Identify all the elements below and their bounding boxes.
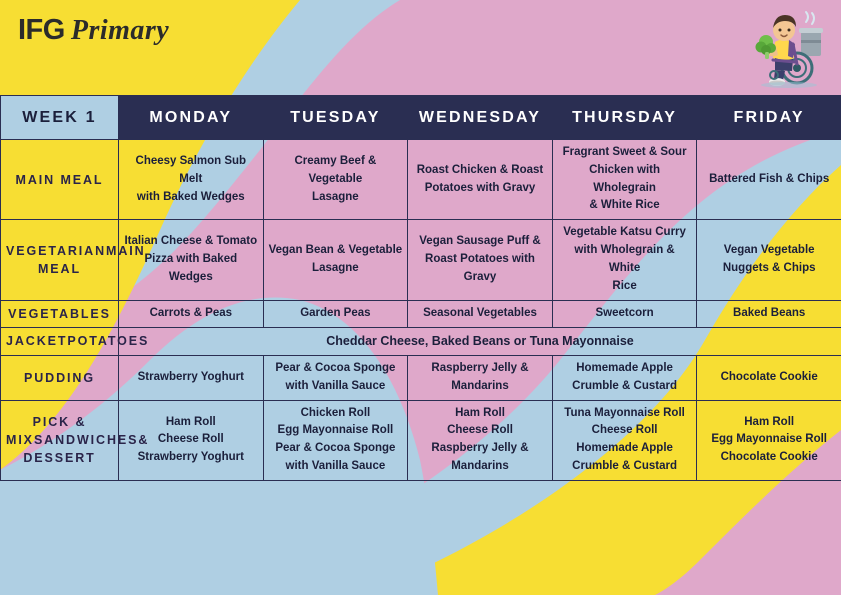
menu-cell-jacket-potatoes-all-days: Cheddar Cheese, Baked Beans or Tuna Mayo…	[119, 327, 841, 355]
menu-cell-pick-mix-sandwiches-dessert-thursday: Tuna Mayonnaise RollCheese RollHomemade …	[552, 400, 697, 480]
menu-cell-pick-mix-sandwiches-dessert-friday: Ham RollEgg Mayonnaise RollChocolate Coo…	[697, 400, 841, 480]
menu-item-line: Raspberry Jelly &	[413, 440, 547, 458]
row-label-vegetarian-main-meal: VEGETARIANMAIN MEAL	[1, 220, 119, 300]
row-label-line: VEGETABLES	[8, 307, 111, 321]
menu-item-line: Vegan Bean & Vegetable	[269, 242, 403, 260]
poster-header: IFG Primary	[0, 0, 841, 95]
menu-item-line: Battered Fish & Chips	[702, 171, 836, 189]
menu-item-line: Seasonal Vegetables	[413, 305, 547, 323]
menu-cell-vegetarian-main-meal-tuesday: Vegan Bean & VegetableLasagne	[263, 220, 408, 300]
row-label-pudding: PUDDING	[1, 356, 119, 401]
menu-cell-main-meal-friday: Battered Fish & Chips	[697, 140, 841, 220]
menu-item-line: Carrots & Peas	[124, 305, 258, 323]
menu-cell-vegetarian-main-meal-friday: Vegan VegetableNuggets & Chips	[697, 220, 841, 300]
menu-item-line: Baked Beans	[702, 305, 836, 323]
menu-item-line: with Wholegrain & White	[558, 242, 692, 278]
menu-item-line: Chocolate Cookie	[702, 369, 836, 387]
menu-item-line: Ham Roll	[413, 405, 547, 423]
menu-item-line: Raspberry Jelly &	[413, 360, 547, 378]
menu-item-line: Egg Mayonnaise Roll	[702, 431, 836, 449]
menu-item-line: Pear & Cocoa Sponge	[269, 440, 403, 458]
menu-cell-vegetables-tuesday: Garden Peas	[263, 300, 408, 327]
menu-cell-vegetables-friday: Baked Beans	[697, 300, 841, 327]
row-label-line: POTATOES	[67, 334, 149, 348]
menu-item-line: with Vanilla Sauce	[269, 378, 403, 396]
menu-cell-vegetarian-main-meal-thursday: Vegetable Katsu Currywith Wholegrain & W…	[552, 220, 697, 300]
menu-cell-main-meal-tuesday: Creamy Beef & VegetableLasagne	[263, 140, 408, 220]
menu-row-vegetarian-main-meal: VEGETARIANMAIN MEALItalian Cheese & Toma…	[1, 220, 841, 300]
menu-item-line: & White Rice	[558, 197, 692, 215]
menu-poster: IFG Primary	[0, 0, 841, 595]
row-label-main-meal: MAIN MEAL	[1, 140, 119, 220]
menu-item-line: Ham Roll	[702, 414, 836, 432]
menu-cell-vegetables-thursday: Sweetcorn	[552, 300, 697, 327]
menu-item-line: Lasagne	[269, 260, 403, 278]
row-label-pick-mix-sandwiches-dessert: PICK & MIXSANDWICHES& DESSERT	[1, 400, 119, 480]
menu-item-line: Homemade Apple	[558, 440, 692, 458]
menu-cell-pudding-wednesday: Raspberry Jelly &Mandarins	[408, 356, 553, 401]
header-day-friday: FRIDAY	[697, 96, 841, 140]
menu-item-line: Strawberry Yoghurt	[124, 369, 258, 387]
menu-cell-main-meal-thursday: Fragrant Sweet & SourChicken with Wholeg…	[552, 140, 697, 220]
menu-item-line: Gravy	[413, 269, 547, 287]
menu-item-line: Cheese Roll	[558, 422, 692, 440]
menu-item-line: Tuna Mayonnaise Roll	[558, 405, 692, 423]
menu-cell-vegetarian-main-meal-monday: Italian Cheese & TomatoPizza with Baked …	[119, 220, 264, 300]
menu-cell-pudding-tuesday: Pear & Cocoa Spongewith Vanilla Sauce	[263, 356, 408, 401]
menu-item-line: Mandarins	[413, 378, 547, 396]
menu-item-line: Homemade Apple	[558, 360, 692, 378]
child-in-wheelchair-with-broccoli-icon	[749, 4, 823, 88]
menu-cell-pick-mix-sandwiches-dessert-tuesday: Chicken RollEgg Mayonnaise RollPear & Co…	[263, 400, 408, 480]
menu-item-line: Rice	[558, 278, 692, 296]
menu-item-line: Creamy Beef & Vegetable	[269, 153, 403, 189]
header-day-thursday: THURSDAY	[552, 96, 697, 140]
menu-item-line: Crumble & Custard	[558, 458, 692, 476]
header-week-label: WEEK 1	[1, 96, 119, 140]
menu-item-line: Chicken Roll	[269, 405, 403, 423]
menu-cell-vegetables-monday: Carrots & Peas	[119, 300, 264, 327]
menu-item-line: Potatoes with Gravy	[413, 180, 547, 198]
row-label-line: SANDWICHES	[34, 433, 138, 447]
menu-item-line: Roast Chicken & Roast	[413, 162, 547, 180]
brand-logo: IFG Primary	[18, 14, 169, 47]
menu-item-line: Pizza with Baked Wedges	[124, 251, 258, 287]
menu-item-line: with Baked Wedges	[124, 189, 258, 207]
menu-item-line: Cheesy Salmon Sub Melt	[124, 153, 258, 189]
menu-row-pudding: PUDDINGStrawberry YoghurtPear & Cocoa Sp…	[1, 356, 841, 401]
menu-cell-pick-mix-sandwiches-dessert-wednesday: Ham RollCheese RollRaspberry Jelly &Mand…	[408, 400, 553, 480]
menu-item-line: Chocolate Cookie	[702, 449, 836, 467]
menu-item-line: Sweetcorn	[558, 305, 692, 323]
menu-item-line: Pear & Cocoa Sponge	[269, 360, 403, 378]
row-label-vegetables: VEGETABLES	[1, 300, 119, 327]
row-label-line: JACKET	[6, 334, 67, 348]
table-header-row: WEEK 1 MONDAY TUESDAY WEDNESDAY THURSDAY…	[1, 96, 841, 140]
menu-item-line: Vegan Vegetable	[702, 242, 836, 260]
header-day-monday: MONDAY	[119, 96, 264, 140]
menu-item-line: Vegan Sausage Puff &	[413, 233, 547, 251]
menu-item-line: Vegetable Katsu Curry	[558, 224, 692, 242]
menu-item-line: Chicken with Wholegrain	[558, 162, 692, 198]
brand-logo-initials: IFG	[18, 14, 65, 47]
menu-item-line: Nuggets & Chips	[702, 260, 836, 278]
menu-cell-pudding-friday: Chocolate Cookie	[697, 356, 841, 401]
menu-cell-pudding-monday: Strawberry Yoghurt	[119, 356, 264, 401]
brand-logo-wordmark: Primary	[71, 15, 169, 47]
menu-cell-vegetables-wednesday: Seasonal Vegetables	[408, 300, 553, 327]
menu-cell-vegetarian-main-meal-wednesday: Vegan Sausage Puff &Roast Potatoes withG…	[408, 220, 553, 300]
table-body: MAIN MEALCheesy Salmon Sub Meltwith Bake…	[1, 140, 841, 481]
menu-item-line: Roast Potatoes with	[413, 251, 547, 269]
menu-item-line: with Vanilla Sauce	[269, 458, 403, 476]
menu-item-line: Strawberry Yoghurt	[124, 449, 258, 467]
menu-row-jacket-potatoes: JACKETPOTATOESCheddar Cheese, Baked Bean…	[1, 327, 841, 355]
row-label-line: PUDDING	[24, 371, 95, 385]
menu-item-line: Mandarins	[413, 458, 547, 476]
menu-item-line: Italian Cheese & Tomato	[124, 233, 258, 251]
weekly-menu-table: WEEK 1 MONDAY TUESDAY WEDNESDAY THURSDAY…	[0, 95, 841, 481]
menu-cell-main-meal-monday: Cheesy Salmon Sub Meltwith Baked Wedges	[119, 140, 264, 220]
header-day-tuesday: TUESDAY	[263, 96, 408, 140]
menu-item-line: Crumble & Custard	[558, 378, 692, 396]
menu-item-line: Ham Roll	[124, 414, 258, 432]
menu-row-pick-mix-sandwiches-dessert: PICK & MIXSANDWICHES& DESSERTHam RollChe…	[1, 400, 841, 480]
menu-item-line: Egg Mayonnaise Roll	[269, 422, 403, 440]
menu-cell-pudding-thursday: Homemade AppleCrumble & Custard	[552, 356, 697, 401]
menu-item-line: Fragrant Sweet & Sour	[558, 144, 692, 162]
menu-item-line: Lasagne	[269, 189, 403, 207]
header-day-wednesday: WEDNESDAY	[408, 96, 553, 140]
row-label-line: MAIN MEAL	[16, 173, 104, 187]
menu-item-line: Garden Peas	[269, 305, 403, 323]
row-label-line: VEGETARIAN	[6, 244, 106, 258]
menu-item-line: Cheese Roll	[413, 422, 547, 440]
menu-cell-main-meal-wednesday: Roast Chicken & RoastPotatoes with Gravy	[408, 140, 553, 220]
menu-row-vegetables: VEGETABLESCarrots & PeasGarden PeasSeaso…	[1, 300, 841, 327]
row-label-jacket-potatoes: JACKETPOTATOES	[1, 327, 119, 355]
menu-row-main-meal: MAIN MEALCheesy Salmon Sub Meltwith Bake…	[1, 140, 841, 220]
